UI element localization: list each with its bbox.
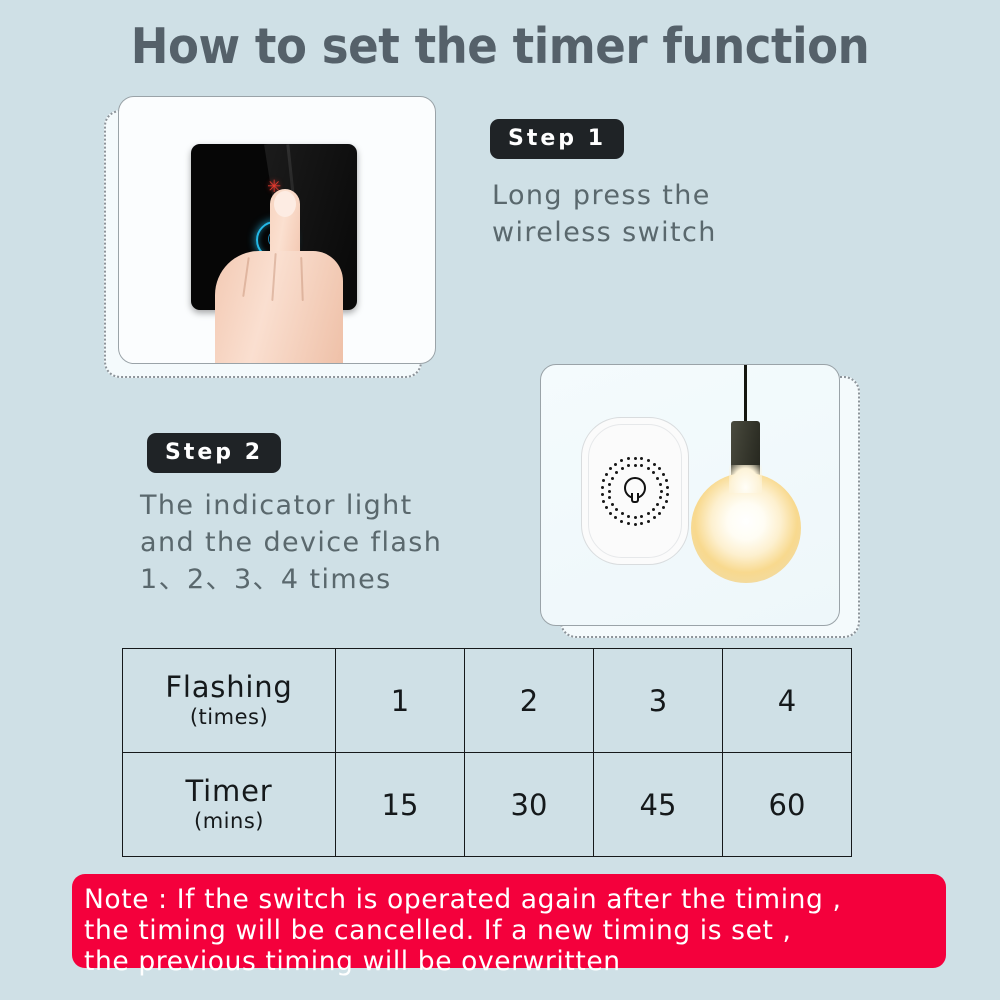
timer-mapping-table: Flashing (times) 1 2 3 4 Timer (mins) 15… xyxy=(122,648,852,857)
pendant-cord xyxy=(744,365,747,423)
row-label-timer: Timer (mins) xyxy=(123,753,336,857)
step-2-text: The indicator light and the device flash… xyxy=(140,487,570,598)
table-cell: 2 xyxy=(465,649,594,753)
switch-photo-card: ✳ xyxy=(104,96,440,378)
step-1-badge: Step 1 xyxy=(490,119,624,159)
step-2-badge: Step 2 xyxy=(147,433,281,473)
table-cell: 30 xyxy=(465,753,594,857)
table-row: Timer (mins) 15 30 45 60 xyxy=(123,753,852,857)
note-banner: Note : If the switch is operated again a… xyxy=(72,874,946,968)
bulb-neck-glow xyxy=(729,465,762,493)
table-cell: 3 xyxy=(594,649,723,753)
table-cell: 60 xyxy=(723,753,852,857)
hand-knuckles xyxy=(215,251,343,364)
row-label-sub: (mins) xyxy=(124,808,334,835)
hand-pressing-illustration xyxy=(215,189,365,364)
bulb-icon xyxy=(624,477,646,503)
page-title: How to set the timer function xyxy=(40,18,960,75)
device-inner-ring xyxy=(588,424,682,558)
table-cell: 4 xyxy=(723,649,852,753)
table-cell: 1 xyxy=(336,649,465,753)
row-label-main: Flashing xyxy=(124,670,334,704)
smart-device-module xyxy=(581,417,689,565)
infographic-page: How to set the timer function ✳ xyxy=(0,0,1000,1000)
table-row: Flashing (times) 1 2 3 4 xyxy=(123,649,852,753)
table-cell: 15 xyxy=(336,753,465,857)
card-front-panel xyxy=(540,364,840,626)
row-label-flashing: Flashing (times) xyxy=(123,649,336,753)
finger-tip xyxy=(274,191,296,217)
device-photo-card xyxy=(540,364,860,638)
card-front-panel: ✳ xyxy=(118,96,436,364)
row-label-main: Timer xyxy=(124,774,334,808)
table-cell: 45 xyxy=(594,753,723,857)
step-1-text: Long press the wireless switch xyxy=(492,177,912,251)
row-label-sub: (times) xyxy=(124,704,334,731)
